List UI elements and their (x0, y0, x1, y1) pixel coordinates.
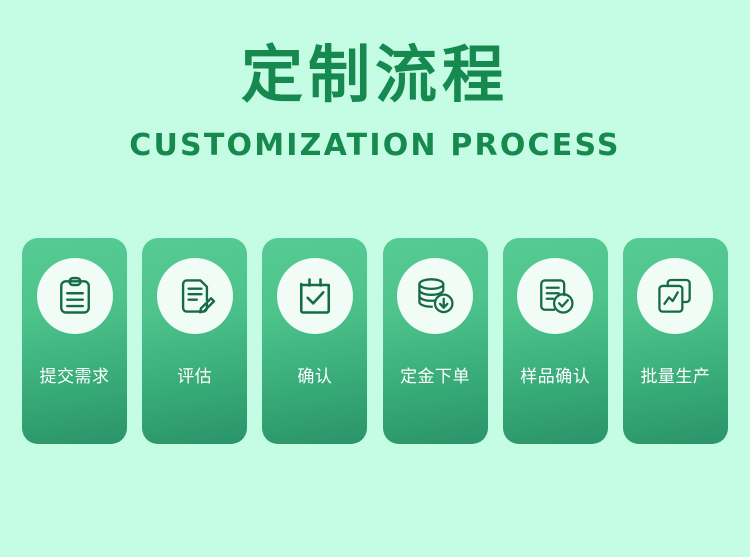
process-step-card-1[interactable]: 提交需求 (22, 238, 127, 444)
customization-process-poster: 定制流程 CUSTOMIZATION PROCESS 提交需求 (0, 0, 750, 557)
calendar-check-icon (277, 258, 353, 334)
process-step-label-5: 样品确认 (503, 362, 608, 387)
page-subtitle: CUSTOMIZATION PROCESS (0, 128, 750, 163)
process-step-card-5[interactable]: 样品确认 (503, 238, 608, 444)
process-step-card-2[interactable]: 评估 (142, 238, 247, 444)
clipboard-icon (37, 258, 113, 334)
page-title: 定制流程 (0, 44, 750, 106)
document-pencil-icon (157, 258, 233, 334)
process-step-label-3: 确认 (262, 362, 367, 387)
process-step-card-3[interactable]: 确认 (262, 238, 367, 444)
process-step-label-4: 定金下单 (383, 362, 488, 387)
header: 定制流程 CUSTOMIZATION PROCESS (0, 0, 750, 163)
documents-chart-icon (637, 258, 713, 334)
process-steps-row: 提交需求 评估 (22, 238, 728, 444)
process-step-card-4[interactable]: 定金下单 (383, 238, 488, 444)
process-step-label-1: 提交需求 (22, 362, 127, 387)
coins-download-icon (397, 258, 473, 334)
process-step-label-2: 评估 (142, 362, 247, 387)
document-check-icon (517, 258, 593, 334)
process-step-label-6: 批量生产 (623, 362, 728, 387)
process-step-card-6[interactable]: 批量生产 (623, 238, 728, 444)
